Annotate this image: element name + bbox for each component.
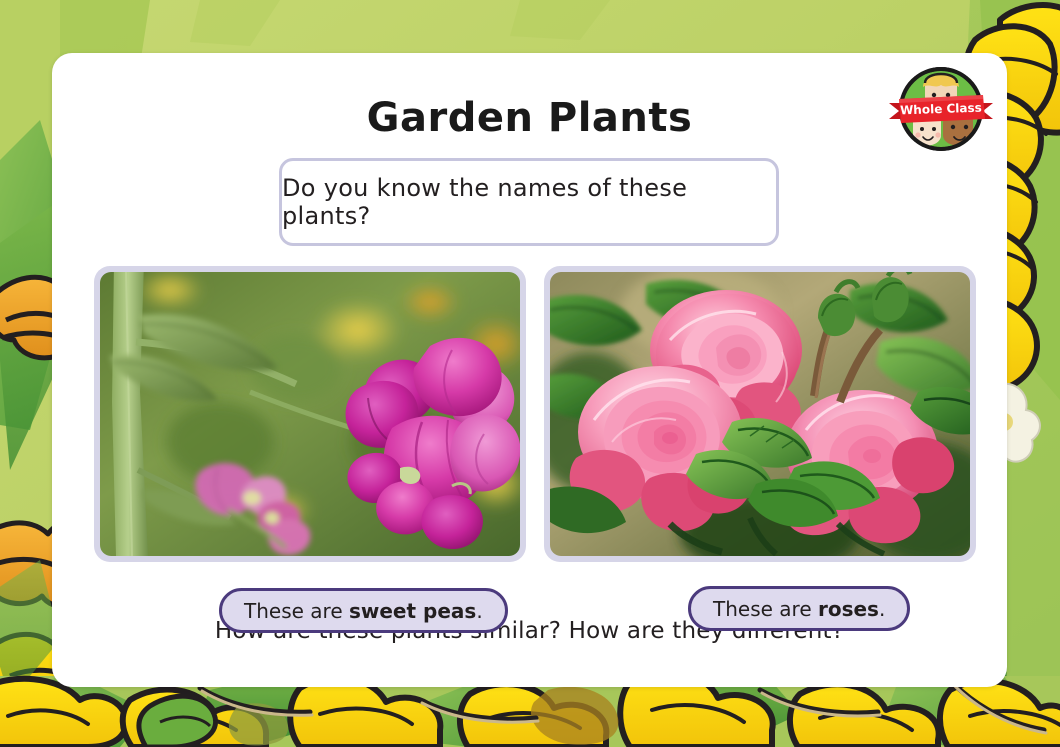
sweet-peas-photo <box>100 272 520 556</box>
slide-root: Garden Plants Do you know the names of t… <box>0 0 1060 747</box>
caption-roses: These are roses. <box>688 586 910 631</box>
caption-sweet-peas-text: These are sweet peas. <box>244 599 483 623</box>
slide-content-card: Garden Plants Do you know the names of t… <box>52 53 1007 687</box>
caption-sweet-peas: These are sweet peas. <box>219 588 508 633</box>
question-prompt-text: Do you know the names of these plants? <box>282 174 776 230</box>
plant-panel-roses[interactable] <box>544 266 976 562</box>
roses-photo <box>550 272 970 556</box>
badge-label: Whole Class <box>900 101 982 118</box>
page-title: Garden Plants <box>52 95 1007 141</box>
question-prompt-box: Do you know the names of these plants? <box>279 158 779 246</box>
plant-image-panels <box>94 266 966 566</box>
caption-roses-text: These are roses. <box>713 597 885 621</box>
plant-panel-sweet-peas[interactable] <box>94 266 526 562</box>
whole-class-badge: Whole Class <box>889 59 993 163</box>
